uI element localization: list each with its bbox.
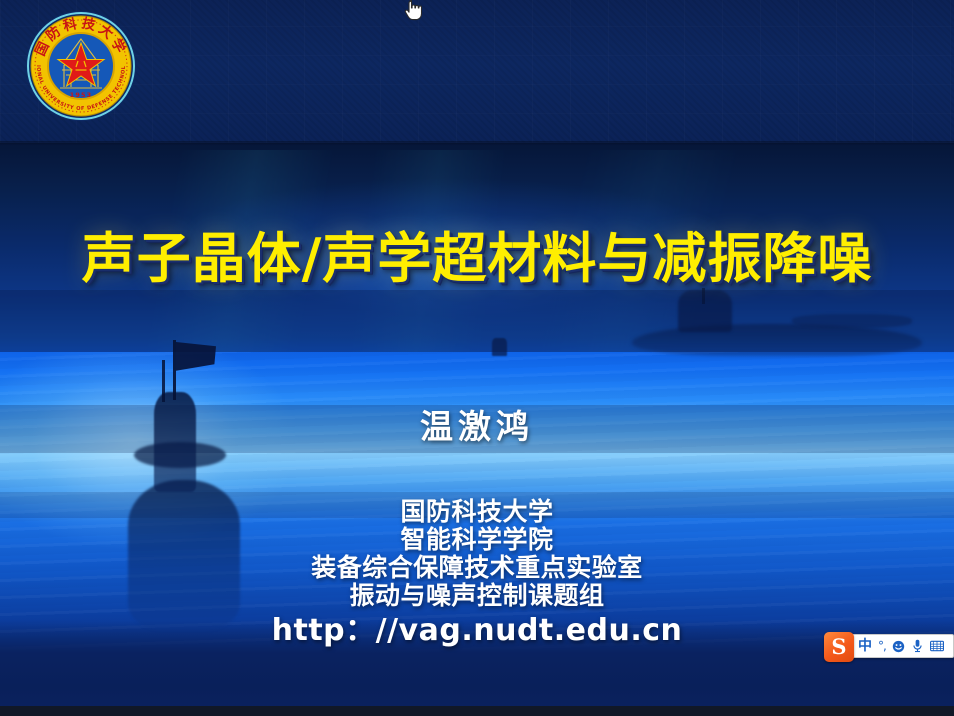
submarine-conning-tower: [678, 290, 732, 332]
submarine-hull: [632, 324, 922, 356]
punctuation-mode-toggle[interactable]: °,: [875, 640, 889, 652]
author-name: 温激鸿: [0, 400, 954, 448]
affiliation-line-university: 国防科技大学: [0, 498, 954, 526]
affiliation-line-college: 智能科学学院: [0, 526, 954, 554]
affiliation-line-laboratory: 装备综合保障技术重点实验室: [0, 554, 954, 582]
soft-keyboard-icon[interactable]: [927, 640, 947, 652]
submarine-silhouette-right: [632, 288, 937, 360]
svg-text:1953: 1953: [70, 91, 93, 99]
header-band-background: [0, 0, 954, 143]
affiliation-block: 国防科技大学 智能科学学院 装备综合保障技术重点实验室 振动与噪声控制课题组 h…: [0, 498, 954, 650]
affiliation-line-group: 振动与噪声控制课题组: [0, 582, 954, 610]
page-title: 声子晶体/声学超材料与减振降噪: [0, 214, 954, 293]
header-seam-line: [0, 141, 954, 145]
submarine-deck: [792, 314, 912, 328]
submarine-mast: [173, 340, 176, 400]
tonal-strip-upper: [0, 290, 954, 352]
presentation-slide: 国防科技大学 NATIONAL UNIVERSITY OF DEFENSE TE…: [0, 0, 954, 716]
microphone-icon[interactable]: [908, 639, 927, 653]
submarine-silhouette-distant: [492, 338, 510, 358]
emoji-icon[interactable]: [889, 640, 908, 653]
lab-website-url[interactable]: http：//vag.nudt.edu.cn: [0, 612, 954, 650]
sogou-ime-toolbar[interactable]: S 中 °,: [828, 634, 954, 658]
bottom-edge-bar: [0, 706, 954, 716]
language-mode-toggle[interactable]: 中: [855, 639, 875, 653]
submarine-conning-tower: [492, 338, 507, 356]
header-grid-texture: [0, 0, 954, 143]
university-logo: 国防科技大学 NATIONAL UNIVERSITY OF DEFENSE TE…: [24, 9, 138, 123]
mouse-cursor-icon: [404, 0, 422, 22]
submarine-flag: [176, 342, 216, 372]
sogou-logo-icon[interactable]: S: [824, 632, 854, 662]
submarine-periscope: [162, 360, 165, 402]
